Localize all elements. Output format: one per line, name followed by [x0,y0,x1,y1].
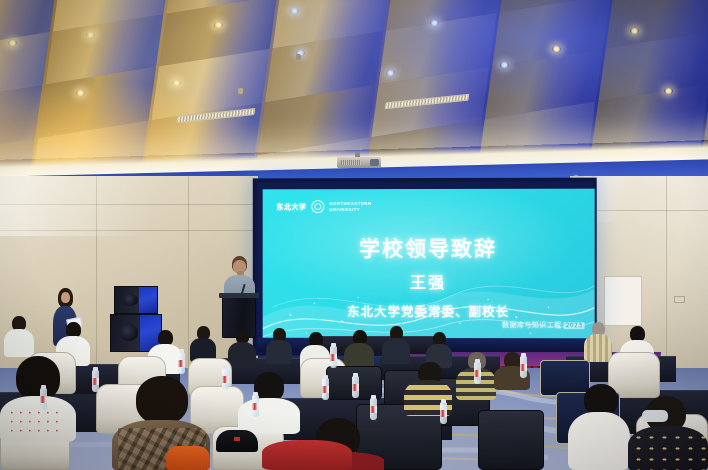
water-bottle [92,370,99,392]
audience-member [228,330,256,366]
ceiling-downlight-icon [664,88,673,94]
audience-member [266,328,292,362]
face-mask [642,410,668,422]
water-bottle [322,378,329,400]
water-bottle [252,395,259,417]
audience-member [4,316,34,356]
shirt-pattern [10,410,60,436]
water-bottle [370,398,377,420]
conference-photo-scene: 东北大学 Northeastern University 学校领导致辞 王强 东… [0,0,708,470]
ceiling-downlight-icon [172,80,181,86]
audience-member-foreground [262,440,352,470]
ceiling-downlight-icon [430,20,439,26]
water-bottle [330,346,337,368]
cap-flag-emblem [234,437,240,441]
ceiling-downlight-icon [552,46,561,52]
audience-member [382,326,410,362]
ceiling-downlight-icon [86,32,95,38]
water-bottle [40,388,47,410]
ceiling-projector [337,152,381,168]
audience-member [584,322,612,360]
wall-notice-panel [604,276,642,326]
audience-member-foreground [568,384,630,470]
water-bottle [352,376,359,398]
audience-member-foreground [0,356,76,438]
water-bottle [440,402,447,424]
water-bottle [474,362,481,384]
ceiling-downlight-icon [290,8,299,14]
ceiling-downlight-icon [8,40,17,46]
logo-english-name: Northeastern University [329,201,371,212]
logo-chinese-name: 东北大学 [277,202,307,212]
audience-member [190,326,216,360]
water-bottle [520,356,527,378]
university-logo: 东北大学 Northeastern University [277,200,372,213]
water-bottle [222,368,229,390]
ceiling-sprinkler-icon [238,88,243,94]
slide-speaker-name: 王强 [263,269,595,293]
slide-title: 学校领导致辞 [263,233,595,263]
audience-member [426,332,452,366]
pa-speaker-top [114,286,158,314]
audience-member [344,330,374,368]
ceiling-downlight-icon [630,28,639,34]
black-cap [216,430,258,452]
slide-watermark: 数据库与知识工程2023 [502,320,585,330]
slide-speaker-role: 东北大学党委常委、副校长 [263,301,595,320]
slide-surface: 东北大学 Northeastern University 学校领导致辞 王强 东… [263,189,595,340]
ceiling-downlight-icon [500,62,509,68]
floral-blouse-pattern [632,432,706,470]
ceiling-sprinkler-icon [296,54,301,60]
water-bottle [178,352,185,374]
slide-watermark-badge: 2023 [564,322,585,329]
university-seal-icon [311,200,324,213]
ceiling-downlight-icon [214,22,223,28]
conference-chair [478,410,544,470]
orange-sun-hat [166,446,210,470]
wall-outlet [674,296,685,303]
ceiling-downlight-icon [76,90,85,96]
led-presentation-wall[interactable]: 东北大学 Northeastern University 学校领导致辞 王强 东… [253,178,597,357]
audience-member-foreground [628,396,708,470]
lectern-top [219,293,259,298]
ceiling-downlight-icon [386,70,395,76]
